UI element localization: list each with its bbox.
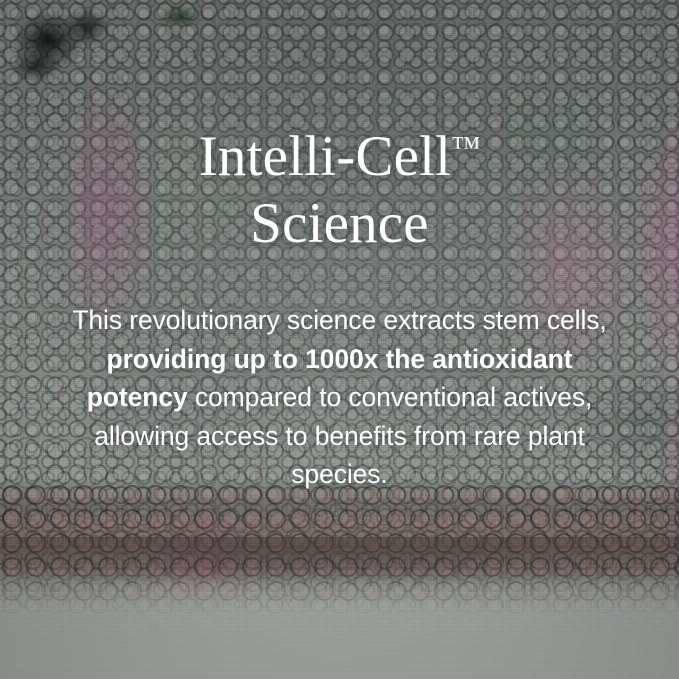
photo-vignette (0, 0, 679, 679)
marketing-image: Intelli-Cell™Science This revolutionary … (0, 0, 679, 679)
background-micrograph-photo (0, 0, 679, 679)
